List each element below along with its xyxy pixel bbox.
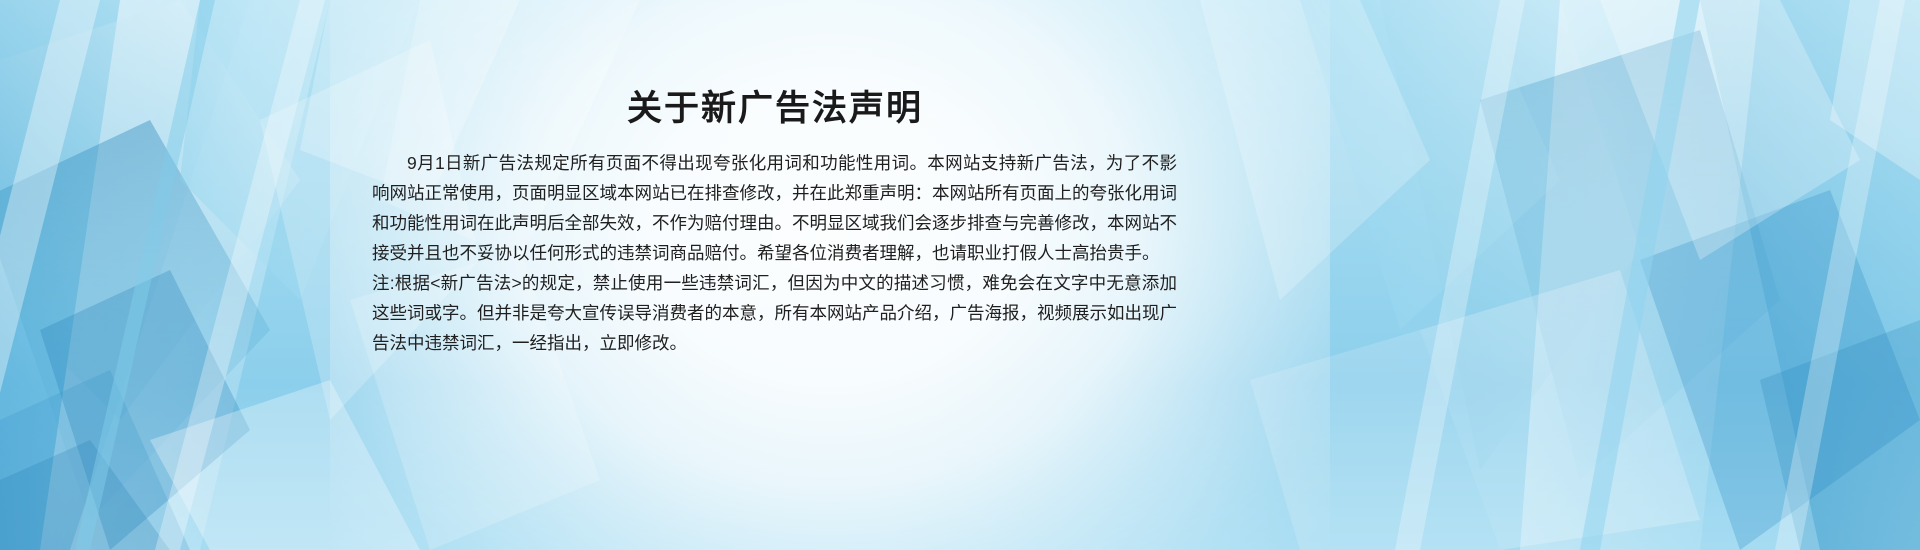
- statement-content: 关于新广告法声明 9月1日新广告法规定所有页面不得出现夸张化用词和功能性用词。本…: [0, 0, 1920, 550]
- statement-paragraph-1: 9月1日新广告法规定所有页面不得出现夸张化用词和功能性用词。本网站支持新广告法，…: [372, 148, 1177, 268]
- page-title: 关于新广告法声明: [370, 88, 1180, 130]
- statement-body: 9月1日新广告法规定所有页面不得出现夸张化用词和功能性用词。本网站支持新广告法，…: [372, 148, 1177, 358]
- advertising-law-statement-banner: 关于新广告法声明 9月1日新广告法规定所有页面不得出现夸张化用词和功能性用词。本…: [0, 0, 1920, 550]
- statement-paragraph-2: 注:根据<新广告法>的规定，禁止使用一些违禁词汇，但因为中文的描述习惯，难免会在…: [372, 268, 1177, 358]
